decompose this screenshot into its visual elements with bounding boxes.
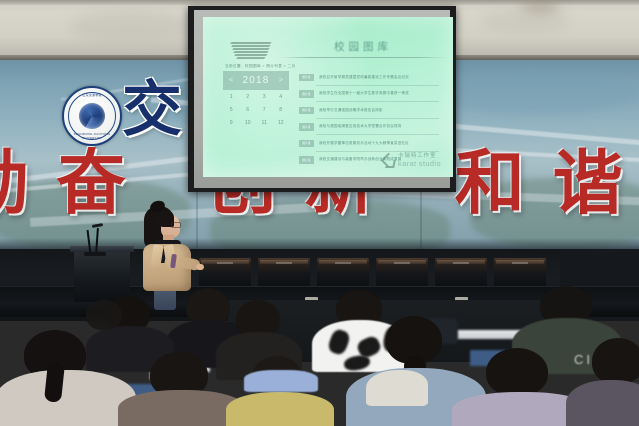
slide-breadcrumb: 当前位置：校园图库 > 照片列表 > 二月 (225, 64, 296, 69)
stage-chair (317, 258, 369, 287)
calendar-month[interactable]: 9 (223, 116, 240, 129)
stage-chair (494, 258, 546, 287)
calendar-next-icon[interactable]: > (279, 77, 283, 84)
projection-screen: 校园图库 当前位置：校园图库 > 照片列表 > 二月 < 2018 > 1 2 … (188, 6, 456, 192)
slide-title-rule (279, 57, 447, 58)
podium (74, 250, 130, 302)
calendar-header: < 2018 > (223, 71, 289, 90)
list-item[interactable]: 图片集 我校开展学雷锋志愿服务月活动十九大精神宣讲进社区 (299, 135, 439, 152)
slide-logo-icon (231, 39, 273, 59)
calendar-month[interactable]: 2 (240, 90, 257, 103)
audience-shoulders-scarf (226, 392, 334, 426)
item-tag: 图片集 (299, 140, 314, 148)
brand-name-en: karat studio (398, 160, 441, 168)
item-tag: 图片集 (299, 90, 314, 98)
emblem-text-cn: 山东交通学院 (64, 93, 120, 97)
stage-chair (435, 258, 487, 287)
microphone-base (84, 252, 106, 256)
item-title: 我校学生在全国第十一届大学生数学竞赛中喜获一等奖 (319, 91, 409, 96)
karat-logo-icon (382, 154, 395, 168)
item-tag: 图片集 (299, 107, 314, 115)
calendar-month[interactable]: 12 (273, 116, 290, 129)
audience-head (592, 338, 639, 384)
item-tag: 图片集 (299, 156, 314, 164)
list-item[interactable]: 图片集 我校举行交通强国战略学术报告会掠影 (299, 102, 439, 119)
list-item[interactable]: 图片集 我校与德国埃姆登应用技术大学签署合作协议现场 (299, 119, 439, 136)
screen-surface: 校园图库 当前位置：校园图库 > 照片列表 > 二月 < 2018 > 1 2 … (194, 10, 450, 188)
item-title: 我校召开新学期党建暨党风廉政建设工作专题会议纪实 (319, 75, 409, 80)
calendar-month[interactable]: 1 (223, 90, 240, 103)
brand-name-cn: 卡瑞特工作室 (398, 154, 441, 160)
calendar-month[interactable]: 7 (256, 103, 273, 116)
presenter-trousers (154, 288, 176, 310)
lecture-hall-screenshot: 山东交通学院 SHANDONG JIAOTONG UNIVERSITY 交通 学… (0, 0, 639, 426)
projected-slide: 校园图库 当前位置：校园图库 > 照片列表 > 二月 < 2018 > 1 2 … (203, 17, 453, 177)
stage-chair (258, 258, 310, 287)
calendar-month[interactable]: 3 (256, 90, 273, 103)
audience-shoulders (0, 370, 136, 426)
calendar-month-grid: 1 2 3 4 5 6 7 8 9 10 11 12 (223, 90, 289, 129)
presenter-hand (196, 264, 204, 270)
emblem-text-en: SHANDONG JIAOTONG UNIVERSITY (64, 132, 120, 140)
item-title: 我校举行交通强国战略学术报告会掠影 (319, 108, 383, 113)
year-calendar[interactable]: < 2018 > 1 2 3 4 5 6 7 8 9 10 (223, 71, 289, 129)
calendar-year: 2018 (242, 75, 269, 86)
audience-head (486, 348, 548, 396)
slide-title: 校园图库 (293, 39, 433, 54)
list-item[interactable]: 图片集 我校召开新学期党建暨党风廉政建设工作专题会议纪实 (299, 69, 439, 86)
stage-chair (376, 258, 428, 287)
item-tag: 图片集 (299, 74, 314, 82)
wall-stain (70, 10, 190, 44)
university-emblem: 山东交通学院 SHANDONG JIAOTONG UNIVERSITY (62, 86, 122, 146)
item-tag: 图片集 (299, 123, 314, 131)
audience-collar (244, 370, 318, 392)
audience-hood (366, 370, 428, 406)
wall-stain (480, 8, 570, 34)
stage-chair (199, 258, 251, 287)
calendar-prev-icon[interactable]: < (229, 77, 233, 84)
audience-shoulders (566, 380, 639, 426)
wall-stain (520, 2, 560, 12)
presenter-glasses (171, 222, 181, 228)
item-title: 我校与德国埃姆登应用技术大学签署合作协议现场 (319, 124, 402, 129)
audience-head (86, 300, 122, 330)
calendar-month[interactable]: 8 (273, 103, 290, 116)
item-title: 我校开展学雷锋志愿服务月活动十九大精神宣讲进社区 (319, 141, 409, 146)
calendar-month[interactable]: 5 (223, 103, 240, 116)
studio-branding: 卡瑞特工作室 karat studio (382, 154, 441, 168)
calendar-month[interactable]: 6 (240, 103, 257, 116)
calendar-month[interactable]: 4 (273, 90, 290, 103)
presenter (130, 202, 202, 306)
calendar-month[interactable]: 11 (256, 116, 273, 129)
list-item[interactable]: 图片集 我校学生在全国第十一届大学生数学竞赛中喜获一等奖 (299, 86, 439, 103)
calendar-month[interactable]: 10 (240, 116, 257, 129)
